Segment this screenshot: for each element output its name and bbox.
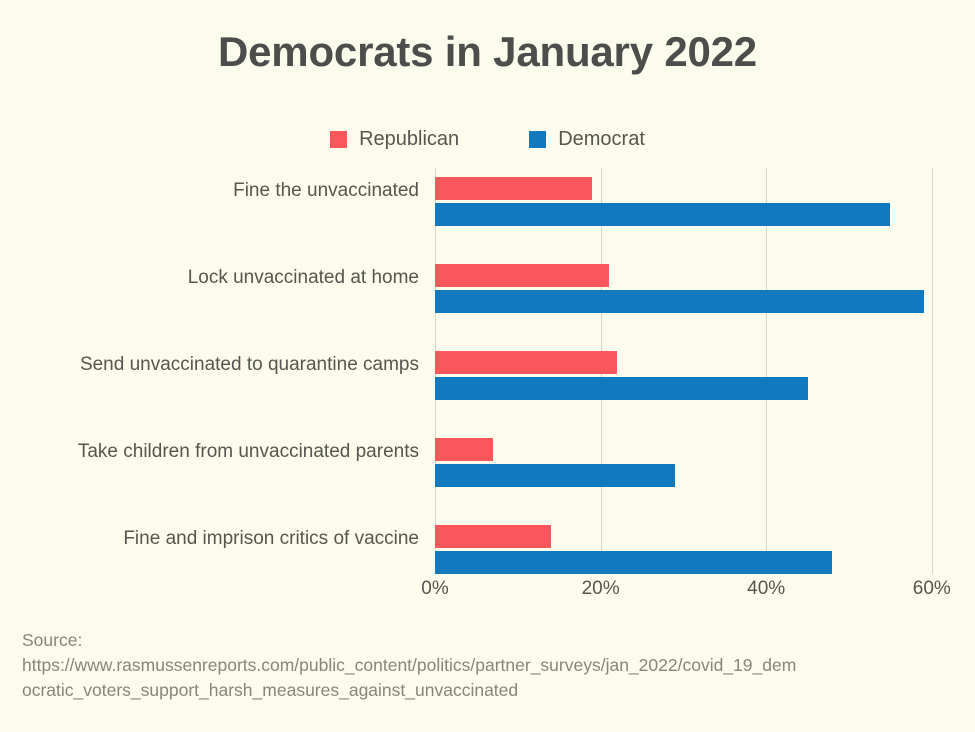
x-tick-label: 20%	[582, 578, 620, 600]
chart-row: Take children from unvaccinated parents	[0, 429, 975, 516]
legend-swatch-democrat	[529, 131, 546, 148]
x-axis: 0%20%40%60%	[0, 578, 975, 606]
bar-democrat[interactable]	[435, 377, 808, 400]
bar-republican[interactable]	[435, 525, 551, 548]
category-label: Fine the unvaccinated	[0, 180, 419, 202]
category-label: Lock unvaccinated at home	[0, 267, 419, 289]
legend-label-democrat: Democrat	[558, 128, 645, 151]
bar-democrat[interactable]	[435, 551, 832, 574]
source-note: Source: https://www.rasmussenreports.com…	[22, 628, 962, 703]
source-label: Source:	[22, 628, 962, 653]
bar-republican[interactable]	[435, 438, 493, 461]
bar-republican[interactable]	[435, 351, 617, 374]
legend-swatch-republican	[330, 131, 347, 148]
x-tick-label: 60%	[913, 578, 951, 600]
bar-democrat[interactable]	[435, 464, 675, 487]
chart-legend: Republican Democrat	[0, 128, 975, 151]
x-tick-label: 0%	[421, 578, 448, 600]
chart-row: Lock unvaccinated at home	[0, 255, 975, 342]
bar-democrat[interactable]	[435, 203, 890, 226]
x-tick-label: 40%	[747, 578, 785, 600]
source-url-line-2: ocratic_voters_support_harsh_measures_ag…	[22, 678, 962, 703]
page-title: Democrats in January 2022	[0, 28, 975, 76]
category-label: Take children from unvaccinated parents	[0, 441, 419, 463]
chart-page: Democrats in January 2022 Republican Dem…	[0, 0, 975, 732]
category-label: Fine and imprison critics of vaccine	[0, 528, 419, 550]
chart-row: Fine the unvaccinated	[0, 168, 975, 255]
legend-item-republican[interactable]: Republican	[330, 128, 459, 151]
source-url-line-1: https://www.rasmussenreports.com/public_…	[22, 653, 962, 678]
legend-item-democrat[interactable]: Democrat	[529, 128, 645, 151]
bar-republican[interactable]	[435, 264, 609, 287]
plot-area: Fine the unvaccinatedLock unvaccinated a…	[0, 168, 975, 578]
legend-label-republican: Republican	[359, 128, 459, 151]
bar-democrat[interactable]	[435, 290, 924, 313]
bar-republican[interactable]	[435, 177, 592, 200]
category-label: Send unvaccinated to quarantine camps	[0, 354, 419, 376]
chart-row: Send unvaccinated to quarantine camps	[0, 342, 975, 429]
